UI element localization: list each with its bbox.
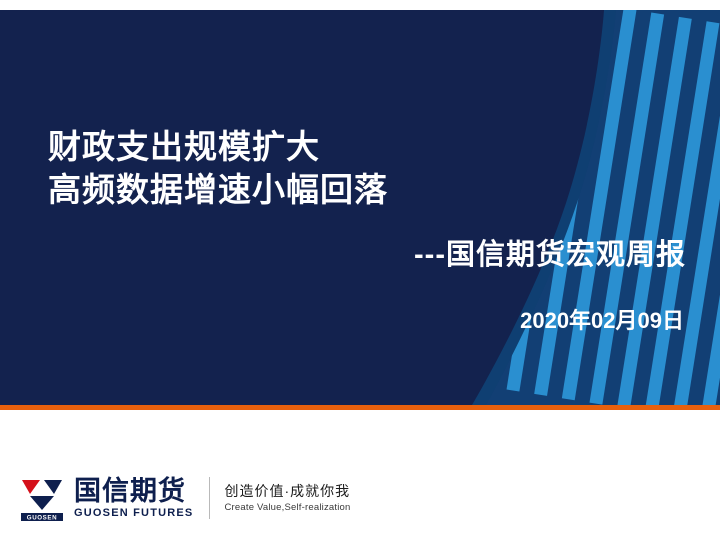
title-slide: 财政支出规模扩大 高频数据增速小幅回落 ---国信期货宏观周报 2020年02月… — [0, 0, 720, 540]
title-banner: 财政支出规模扩大 高频数据增速小幅回落 ---国信期货宏观周报 2020年02月… — [0, 10, 720, 405]
date-label: 2020年02月09日 — [48, 303, 688, 335]
brand-logo: GUOSEN 国信期货 GUOSEN FUTURES 创造价值·成就你我 Cre… — [18, 474, 351, 522]
logo-chinese-name: 国信期货 — [74, 476, 193, 506]
footer-area: GUOSEN 国信期货 GUOSEN FUTURES 创造价值·成就你我 Cre… — [0, 410, 720, 540]
guosen-logo-icon: GUOSEN — [18, 474, 66, 522]
slogan-english: Create Value,Self-realization — [224, 501, 350, 514]
title-line-1: 财政支出规模扩大 — [48, 125, 688, 168]
brand-slogan: 创造价值·成就你我 Create Value,Self-realization — [224, 482, 350, 514]
title-line-2: 高频数据增速小幅回落 — [48, 168, 688, 211]
subtitle: ---国信期货宏观周报 — [48, 231, 688, 273]
slogan-chinese: 创造价值·成就你我 — [224, 482, 350, 501]
logo-wordmark: 国信期货 GUOSEN FUTURES — [74, 476, 193, 520]
svg-text:GUOSEN: GUOSEN — [27, 514, 57, 521]
logo-english-name: GUOSEN FUTURES — [74, 506, 193, 520]
logo-divider — [209, 477, 210, 519]
title-text-block: 财政支出规模扩大 高频数据增速小幅回落 ---国信期货宏观周报 2020年02月… — [48, 125, 688, 335]
